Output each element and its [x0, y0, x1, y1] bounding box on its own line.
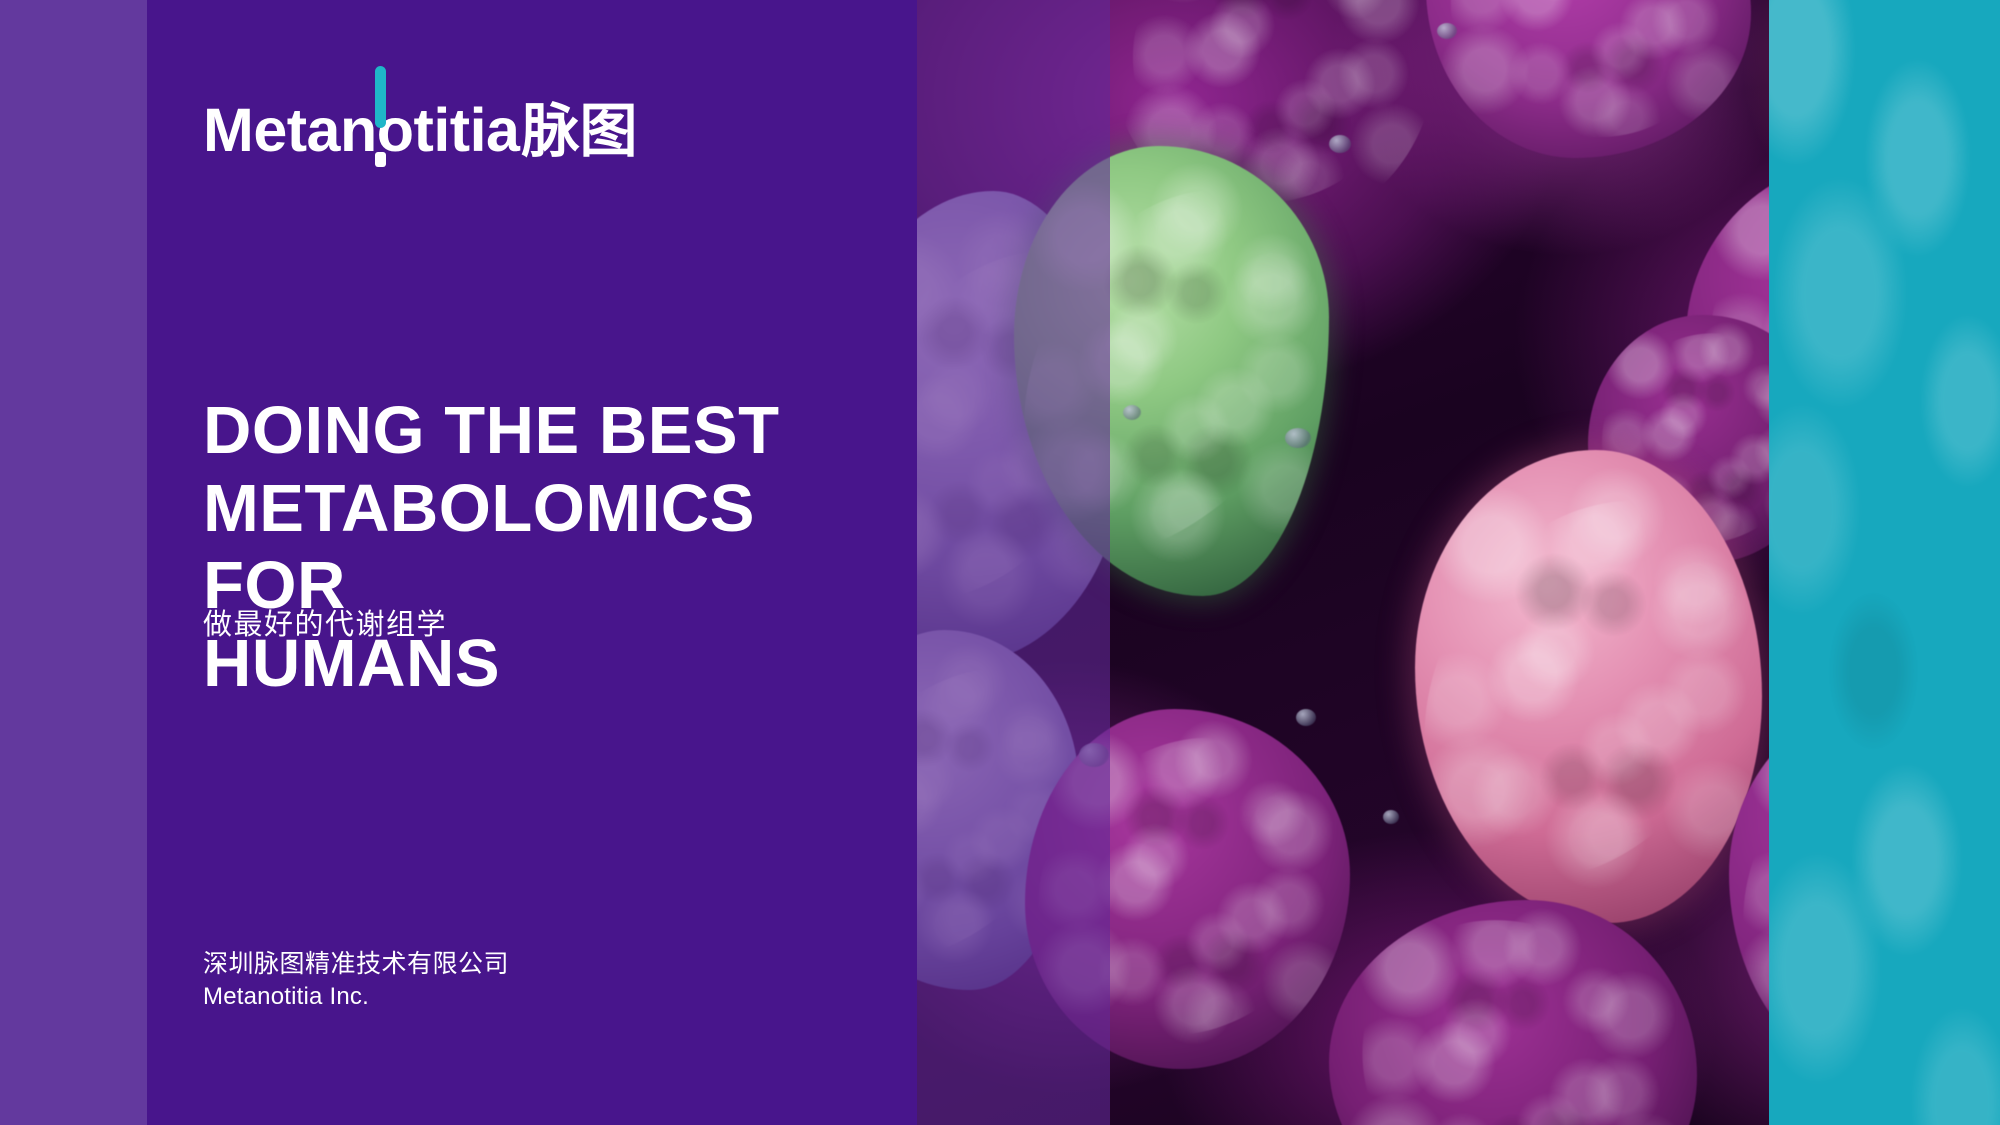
brand-logo[interactable]: Metanotitia 脉图 [203, 100, 637, 170]
molecule-speck [1123, 405, 1141, 420]
page-title: DOING THE BEST METABOLOMICS FOR HUMANS [203, 392, 843, 703]
molecule-speck [1383, 810, 1399, 824]
logo-wordmark: Metanotitia [203, 100, 519, 161]
headline-line-2: METABOLOMICS FOR [203, 470, 843, 625]
logo-chinese-mark: 脉图 [521, 103, 637, 161]
subtitle: 做最好的代谢组学 [203, 607, 447, 645]
molecule-speck [1437, 23, 1457, 39]
pink-molecule [1415, 450, 1762, 923]
magenta-molecule [1329, 900, 1697, 1125]
teal-pin-base-icon [375, 152, 386, 167]
molecule-speck [1329, 135, 1351, 153]
teal-band-texture [1769, 0, 2000, 1125]
left-accent-band [0, 0, 147, 1125]
right-teal-band [1769, 0, 2000, 1125]
molecule-speck [1285, 428, 1311, 448]
molecule-speck [1296, 709, 1316, 726]
footer: 深圳脉图精准技术有限公司 Metanotitia Inc. [203, 948, 509, 1013]
headline-line-1: DOING THE BEST [203, 392, 843, 470]
title-slide: Metanotitia 脉图 DOING THE BEST METABOLOMI… [0, 0, 2000, 1125]
magenta-molecule [1426, 0, 1751, 158]
footer-company-cn: 深圳脉图精准技术有限公司 [203, 948, 509, 981]
teal-pin-icon [375, 66, 386, 128]
footer-company-en: Metanotitia Inc. [203, 981, 509, 1013]
photo-purple-tint-band [917, 0, 1110, 1125]
